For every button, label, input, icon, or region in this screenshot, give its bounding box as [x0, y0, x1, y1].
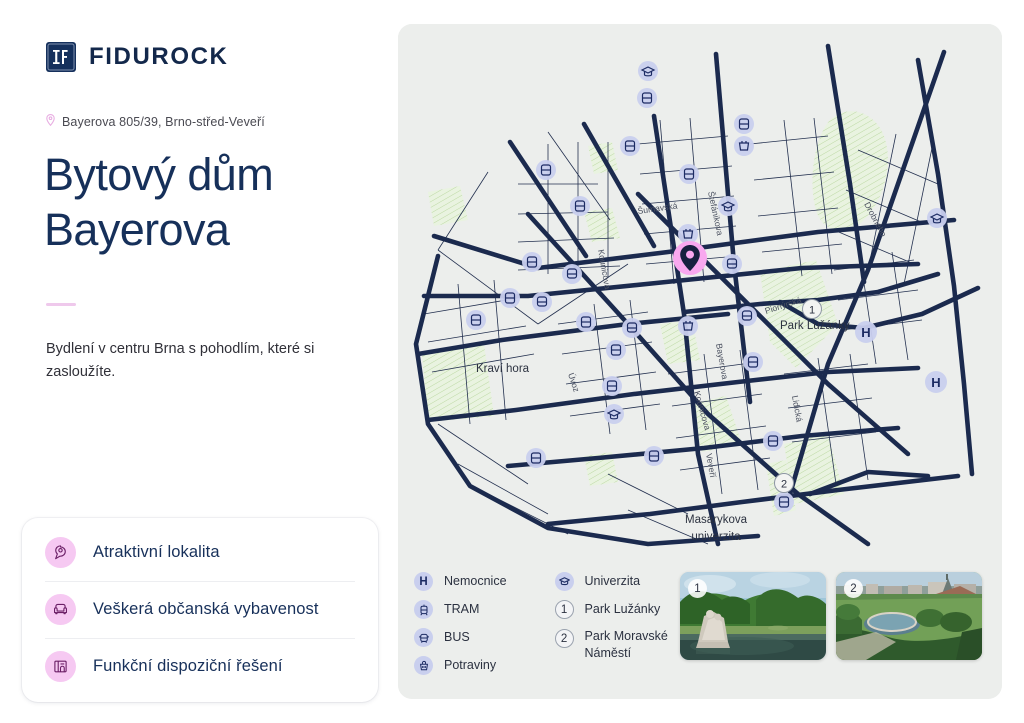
- legend-item-grocery[interactable]: Potraviny: [414, 656, 507, 675]
- legend-item-tram[interactable]: TRAM: [414, 600, 507, 619]
- numbered-marker-2: 2: [775, 474, 794, 493]
- headline-line-2: Bayerova: [44, 204, 229, 255]
- photo-badge: 1: [688, 579, 707, 598]
- photo-gallery: 1: [680, 572, 982, 660]
- brand-name-text: FIDUROCK: [89, 43, 228, 71]
- legend-label: Potraviny: [444, 657, 496, 674]
- svg-text:univerzita: univerzita: [691, 531, 741, 543]
- map-legend: H Nemocnice TRAM: [414, 572, 690, 675]
- location-pin-icon: [46, 113, 55, 131]
- address-line: Bayerova 805/39, Brno-střed-Veveří: [46, 113, 265, 131]
- bus-marker: [722, 254, 742, 274]
- floorplan-icon: [45, 651, 76, 682]
- grocery-icon: [414, 656, 433, 675]
- tram-marker: [466, 310, 486, 330]
- tram-marker: [606, 340, 626, 360]
- tram-marker: [570, 196, 590, 216]
- number-badge: 1: [555, 600, 574, 619]
- numbered-marker-1: 1: [803, 300, 822, 319]
- legend-label: Park Lužánky: [585, 601, 661, 618]
- university-marker: [718, 196, 738, 216]
- photo-park-moravske[interactable]: 2: [836, 572, 982, 660]
- tram-marker: [763, 431, 783, 451]
- tram-marker: [679, 164, 699, 184]
- brand-logo[interactable]: FIDUROCK: [46, 42, 228, 72]
- feature-item-location[interactable]: Atraktivní lokalita: [22, 524, 378, 581]
- tram-marker: [637, 88, 657, 108]
- grocery-marker: [678, 316, 698, 336]
- graduation-cap-icon: [555, 572, 574, 591]
- legend-item-park-luzanky[interactable]: 1 Park Lužánky: [555, 600, 690, 619]
- grocery-marker: [678, 224, 698, 244]
- tram-marker: [774, 492, 794, 512]
- tram-marker: [743, 352, 763, 372]
- legend-column-1: H Nemocnice TRAM: [414, 572, 507, 675]
- svg-text:Park Lužánky: Park Lužánky: [780, 320, 850, 332]
- number-badge: 2: [555, 629, 574, 648]
- tram-marker: [526, 448, 546, 468]
- svg-text:2: 2: [781, 479, 787, 491]
- hospital-marker: H: [855, 321, 877, 343]
- subtitle-text: Bydlení v centru Brna s pohodlím, které …: [46, 338, 346, 385]
- tram-marker: [734, 114, 754, 134]
- fidurock-monogram-icon: [46, 42, 76, 72]
- svg-text:H: H: [861, 325, 870, 340]
- university-marker: [638, 61, 658, 81]
- tram-icon: [414, 600, 433, 619]
- legend-item-park-moravske[interactable]: 2 Park Moravské Náměstí: [555, 628, 690, 661]
- location-pin-icon: [45, 537, 76, 568]
- university-marker: [604, 404, 624, 424]
- map-pin-marker[interactable]: [673, 241, 707, 275]
- svg-text:1: 1: [809, 305, 815, 317]
- accent-divider: [46, 303, 76, 306]
- tram-marker: [576, 312, 596, 332]
- svg-text:Kraví hora: Kraví hora: [476, 363, 530, 375]
- legend-column-2: Univerzita 1 Park Lužánky 2 Park Moravsk…: [555, 572, 690, 675]
- legend-label: Univerzita: [585, 573, 641, 590]
- svg-text:Masarykova: Masarykova: [685, 514, 748, 526]
- legend-item-hospital[interactable]: H Nemocnice: [414, 572, 507, 591]
- legend-label: Nemocnice: [444, 573, 507, 590]
- tram-marker: [500, 288, 520, 308]
- bus-marker: [737, 306, 757, 326]
- university-marker: [927, 208, 947, 228]
- feature-list-card: Atraktivní lokalita Veškerá občanská vyb…: [22, 518, 378, 702]
- map-panel[interactable]: Šumavská Štefánikova Kounicova Pionýrská…: [398, 24, 1002, 699]
- tram-marker: [602, 376, 622, 396]
- poster-root: FIDUROCK Bayerova 805/39, Brno-střed-Vev…: [0, 0, 1024, 723]
- feature-label: Funkční dispoziční řešení: [93, 657, 283, 676]
- legend-label: BUS: [444, 629, 470, 646]
- tram-marker: [536, 160, 556, 180]
- bus-icon: [414, 628, 433, 647]
- hospital-marker: H: [925, 371, 947, 393]
- armchair-icon: [45, 594, 76, 625]
- hospital-icon: H: [414, 572, 433, 591]
- left-content-panel: FIDUROCK Bayerova 805/39, Brno-střed-Vev…: [0, 0, 400, 723]
- photo-park-luzanky[interactable]: 1: [680, 572, 826, 660]
- feature-item-amenities[interactable]: Veškerá občanská vybavenost: [22, 581, 378, 638]
- legend-label: TRAM: [444, 601, 479, 618]
- bus-marker: [622, 318, 642, 338]
- feature-label: Veškerá občanská vybavenost: [93, 600, 319, 619]
- feature-label: Atraktivní lokalita: [93, 543, 220, 562]
- legend-item-university[interactable]: Univerzita: [555, 572, 690, 591]
- address-text: Bayerova 805/39, Brno-střed-Veveří: [62, 115, 265, 129]
- bus-marker: [532, 292, 552, 312]
- feature-item-layout[interactable]: Funkční dispoziční řešení: [22, 638, 378, 695]
- page-title: Bytový dům Bayerova: [44, 148, 384, 258]
- grocery-marker: [734, 136, 754, 156]
- bus-marker: [562, 264, 582, 284]
- photo-badge: 2: [844, 579, 863, 598]
- legend-item-bus[interactable]: BUS: [414, 628, 507, 647]
- tram-marker: [644, 446, 664, 466]
- legend-label: Park Moravské Náměstí: [585, 628, 690, 661]
- svg-text:H: H: [931, 375, 940, 390]
- headline-line-1: Bytový dům: [44, 149, 273, 200]
- tram-marker: [620, 136, 640, 156]
- tram-marker: [522, 252, 542, 272]
